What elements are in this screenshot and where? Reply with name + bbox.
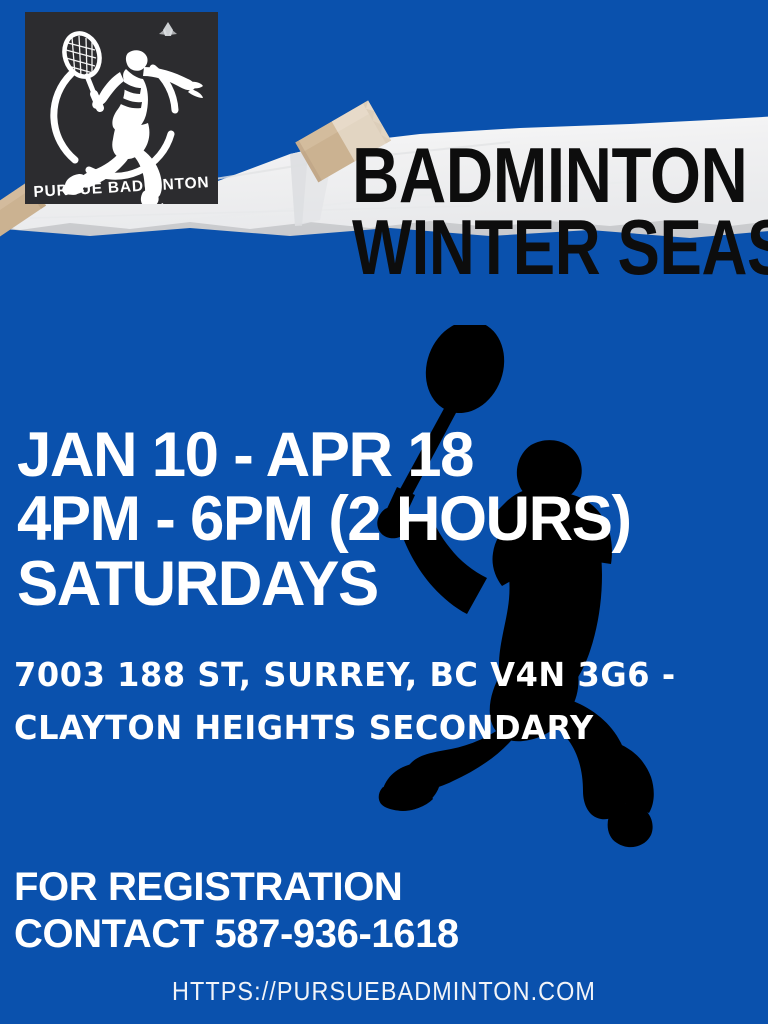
- venue-block: 7003 188 ST, SURREY, BC V4N 3G6 - CLAYTO…: [14, 648, 696, 755]
- schedule-dates: JAN 10 - APR 18: [17, 423, 631, 487]
- poster-headline: BADMINTON WINTER SEASON: [352, 140, 762, 284]
- pursue-badminton-logo: PURSUE BADMINTON: [25, 12, 218, 204]
- registration-contact[interactable]: CONTACT 587-936-1618: [14, 911, 459, 958]
- schedule-time: 4PM - 6PM (2 HOURS): [17, 487, 631, 551]
- venue-address: 7003 188 ST, SURREY, BC V4N 3G6 -: [14, 648, 676, 701]
- registration-label: FOR REGISTRATION: [14, 864, 459, 911]
- headline-line-2: WINTER SEASON: [352, 212, 686, 284]
- schedule-day: SATURDAYS: [17, 552, 631, 616]
- website-url[interactable]: HTTPS://PURSUEBADMINTON.COM: [38, 976, 729, 1007]
- registration-block: FOR REGISTRATION CONTACT 587-936-1618: [14, 864, 459, 958]
- headline-line-1: BADMINTON: [352, 140, 696, 212]
- poster-canvas: PURSUE BADMINTON: [0, 0, 768, 1024]
- venue-name: CLAYTON HEIGHTS SECONDARY: [14, 701, 676, 754]
- schedule-block: JAN 10 - APR 18 4PM - 6PM (2 HOURS) SATU…: [17, 423, 643, 616]
